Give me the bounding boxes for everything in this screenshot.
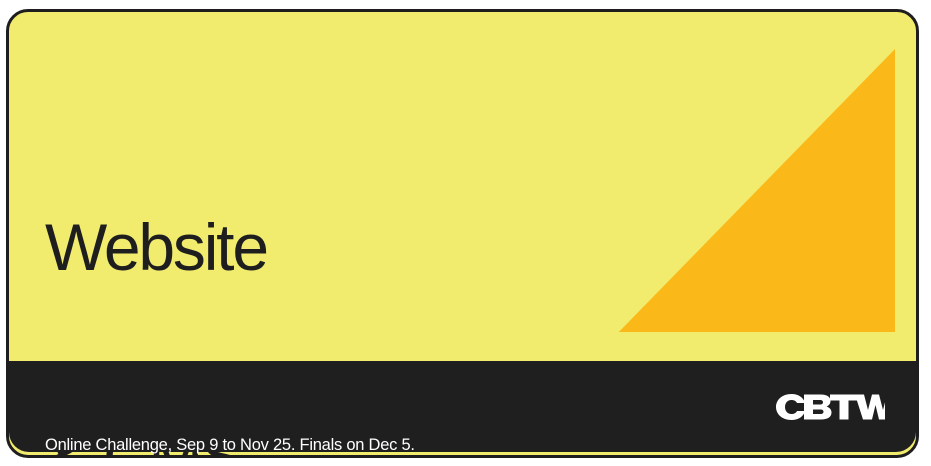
- orange-right-triangle-icon: [599, 32, 895, 332]
- headline-line-1: Website: [45, 212, 605, 282]
- challenge-schedule-line: Online Challenge, Sep 9 to Nov 25. Final…: [45, 432, 415, 458]
- challenge-banner-card: Website & CMS Development Online Challen…: [6, 9, 919, 458]
- footer-bar: Online Challenge, Sep 9 to Nov 25. Final…: [9, 361, 916, 452]
- cbtw-logo: [775, 391, 885, 423]
- challenge-details: Online Challenge, Sep 9 to Nov 25. Final…: [45, 378, 415, 458]
